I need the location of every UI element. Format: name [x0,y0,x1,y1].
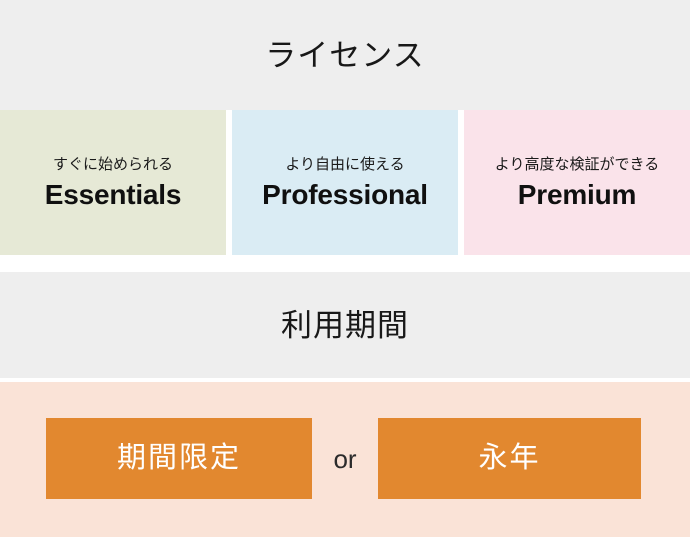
license-card-essentials[interactable]: すぐに始められる Essentials [0,110,226,255]
license-card-premium[interactable]: より高度な検証ができる Premium [464,110,690,255]
period-option-perpetual[interactable]: 永年 [378,418,641,499]
period-options-panel: 期間限定 or 永年 [0,382,690,537]
license-card-row: すぐに始められる Essentials より自由に使える Professiona… [0,110,690,255]
period-option-separator: or [312,418,378,499]
license-card-tagline: すぐに始められる [53,157,173,172]
license-card-name: Premium [518,181,636,209]
license-section-title: ライセンス [265,40,424,71]
period-section-title: 利用期間 [281,310,409,341]
period-option-label: 期間限定 [117,444,241,473]
period-option-limited[interactable]: 期間限定 [46,418,312,499]
period-section-header: 利用期間 [0,272,690,378]
period-option-label: 永年 [478,444,540,473]
license-card-name: Essentials [45,181,182,209]
license-card-tagline: より自由に使える [285,157,404,172]
license-card-tagline: より高度な検証ができる [495,157,659,172]
section-divider [0,255,690,272]
license-card-professional[interactable]: より自由に使える Professional [232,110,458,255]
license-period-diagram: ライセンス すぐに始められる Essentials より自由に使える Profe… [0,0,690,537]
license-section-header: ライセンス [0,0,690,110]
license-card-name: Professional [262,181,428,209]
